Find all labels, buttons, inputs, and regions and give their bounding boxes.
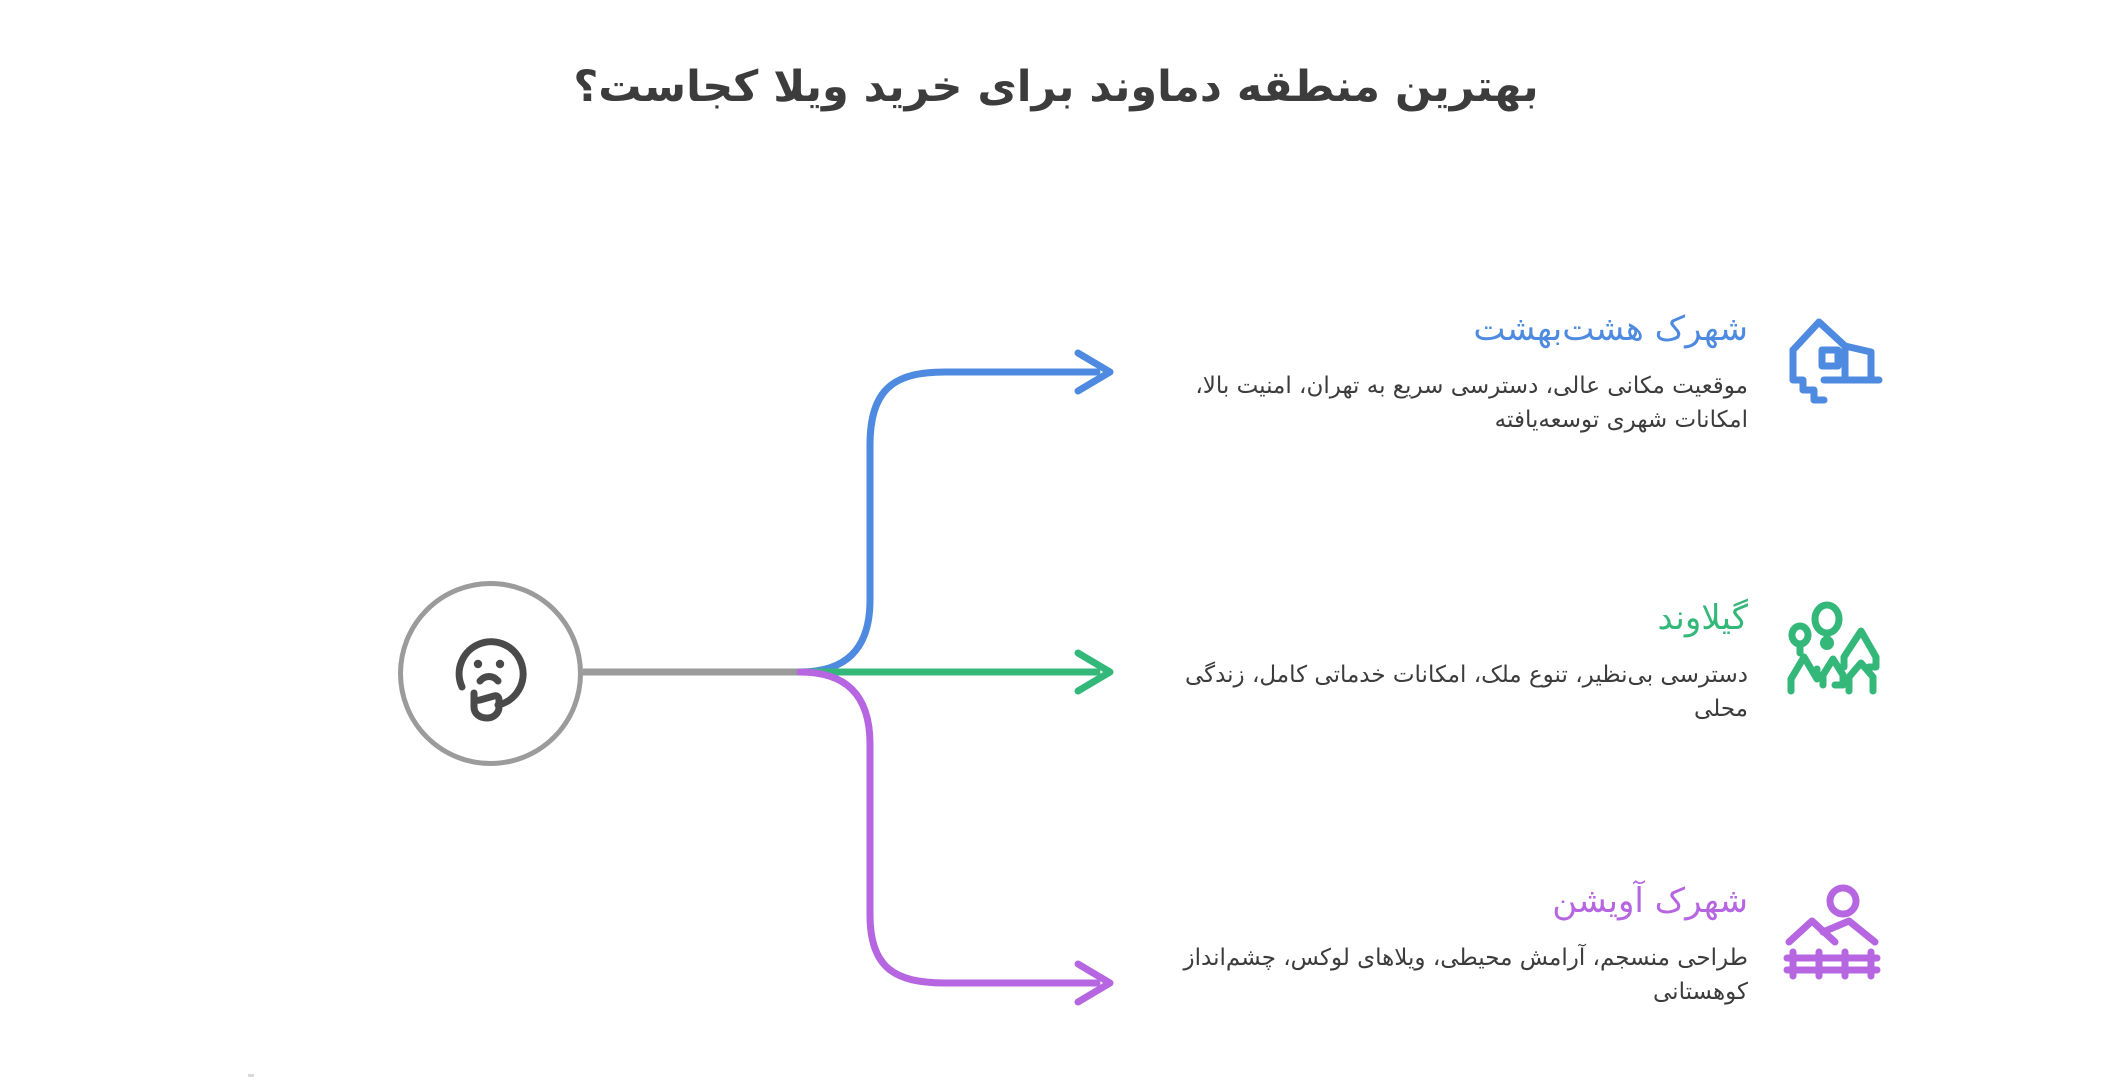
branch-text-1: شهرک هشت‌بهشت موقعیت مکانی عالی، دسترسی … — [1148, 308, 1748, 438]
branch-description-3: طراحی منسجم، آرامش محیطی، ویلاهای لوکس، … — [1148, 941, 1748, 1010]
corner-artifact — [248, 1074, 254, 1077]
branch-item-2[interactable]: گیلاوند دسترسی بی‌نظیر، تنوع ملک، امکانا… — [1148, 597, 1888, 727]
branch-title-1: شهرک هشت‌بهشت — [1148, 308, 1748, 351]
branch-arrowhead-3 — [1078, 964, 1110, 1002]
branch-item-3[interactable]: شهرک آویشن طراحی منسجم، آرامش محیطی، ویل… — [1148, 880, 1888, 1010]
branch-text-2: گیلاوند دسترسی بی‌نظیر، تنوع ملک، امکانا… — [1148, 597, 1748, 727]
branch-description-2: دسترسی بی‌نظیر، تنوع ملک، امکانات خدماتی… — [1148, 658, 1748, 727]
mindmap-canvas: بهترین منطقه دماوند برای خرید ویلا کجاست… — [0, 0, 2112, 1090]
branch-line-1 — [800, 372, 1097, 672]
branch-line-3 — [800, 672, 1097, 983]
branch-title-3: شهرک آویشن — [1148, 880, 1748, 923]
thinking-face-icon — [436, 619, 546, 729]
branch-description-1: موقعیت مکانی عالی، دسترسی سریع به تهران،… — [1148, 369, 1748, 438]
branch-item-1[interactable]: شهرک هشت‌بهشت موقعیت مکانی عالی، دسترسی … — [1148, 308, 1888, 438]
branch-text-3: شهرک آویشن طراحی منسجم، آرامش محیطی، ویل… — [1148, 880, 1748, 1010]
branch-title-2: گیلاوند — [1148, 597, 1748, 640]
branch-arrowhead-2 — [1078, 653, 1110, 691]
central-node[interactable] — [398, 581, 583, 766]
people-and-trees-icon — [1778, 597, 1888, 707]
page-title: بهترین منطقه دماوند برای خرید ویلا کجاست… — [0, 60, 2112, 116]
house-with-steps-icon — [1778, 308, 1888, 418]
branch-arrowhead-1 — [1078, 353, 1110, 391]
sun-mountains-fence-icon — [1778, 880, 1888, 990]
